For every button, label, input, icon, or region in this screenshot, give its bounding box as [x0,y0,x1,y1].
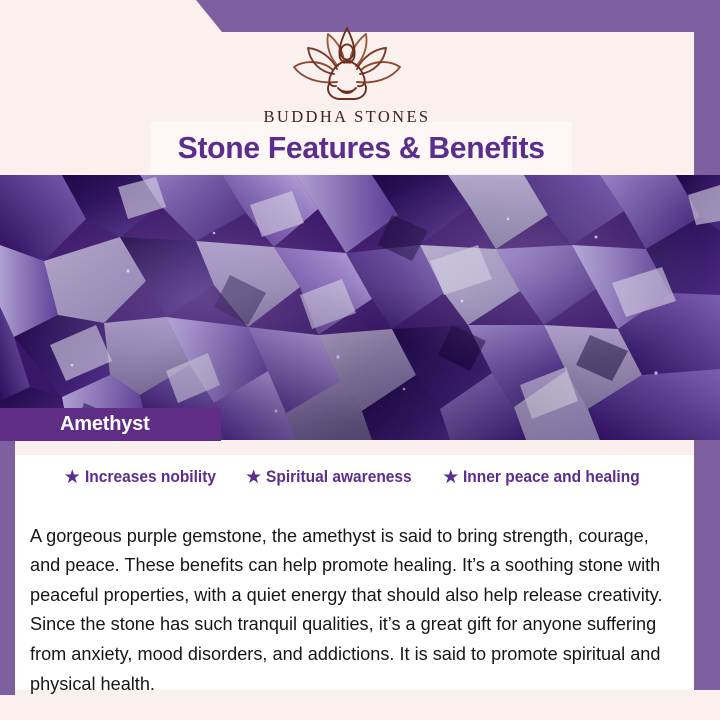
page-title: Stone Features & Benefits [177,130,544,166]
star-icon: ★ [442,468,459,487]
benefit-item: ★ Inner peace and healing [442,468,651,487]
benefit-label: Inner peace and healing [463,468,640,487]
lotus-meditation-icon [282,22,412,104]
stone-name-badge: Amethyst [0,408,221,441]
amethyst-photo [0,175,720,440]
stone-info-card: BUDDHA STONES Stone Features & Benefits [0,0,720,720]
benefit-item: ★ Spiritual awareness [245,468,421,487]
content-cream-strip [15,440,694,456]
star-icon: ★ [245,468,262,487]
benefit-label: Increases nobility [85,468,216,487]
title-panel: Stone Features & Benefits [150,122,572,174]
benefit-item: ★ Increases nobility [64,468,224,487]
benefits-row: ★ Increases nobility ★ Spiritual awarene… [30,468,685,487]
benefit-label: Spiritual awareness [266,468,412,487]
star-icon: ★ [64,468,81,487]
stone-description: A gorgeous purple gemstone, the amethyst… [30,521,677,699]
brand-header: BUDDHA STONES [0,22,694,127]
left-decorative-band [0,430,15,695]
stone-name-label: Amethyst [0,413,150,436]
